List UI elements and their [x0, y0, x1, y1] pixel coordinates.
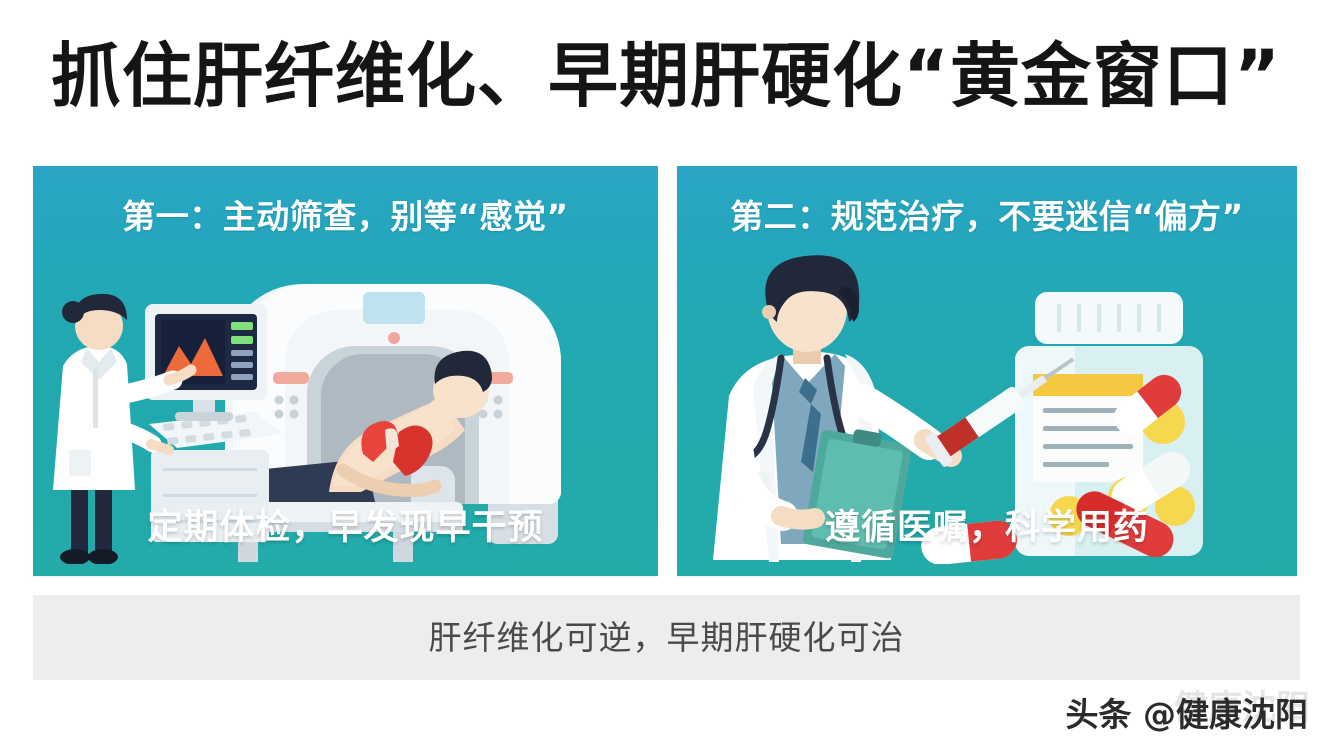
panel-caption-treatment: 遵循医嘱，科学用药 — [677, 499, 1297, 550]
panel-heading-screening: 第一：主动筛查，别等“感觉” — [33, 190, 658, 238]
panel-screening: 第一：主动筛查，别等“感觉” — [33, 166, 658, 576]
footer-strip: 肝纤维化可逆，早期肝硬化可治 — [33, 595, 1300, 680]
watermark-label: 头条 @健康沈阳 — [1066, 688, 1309, 736]
panel-caption-screening: 定期体检，早发现早干预 — [33, 499, 658, 550]
panel-treatment: 第二：规范治疗，不要迷信“偏方” — [677, 166, 1297, 576]
panel-heading-treatment: 第二：规范治疗，不要迷信“偏方” — [677, 190, 1297, 238]
watermark: 健康沈阳 头条 @健康沈阳 — [1014, 680, 1314, 742]
page-title: 抓住肝纤维化、早期肝硬化“黄金窗口” — [0, 38, 1332, 115]
footer-summary-text: 肝纤维化可逆，早期肝硬化可治 — [33, 595, 1300, 680]
